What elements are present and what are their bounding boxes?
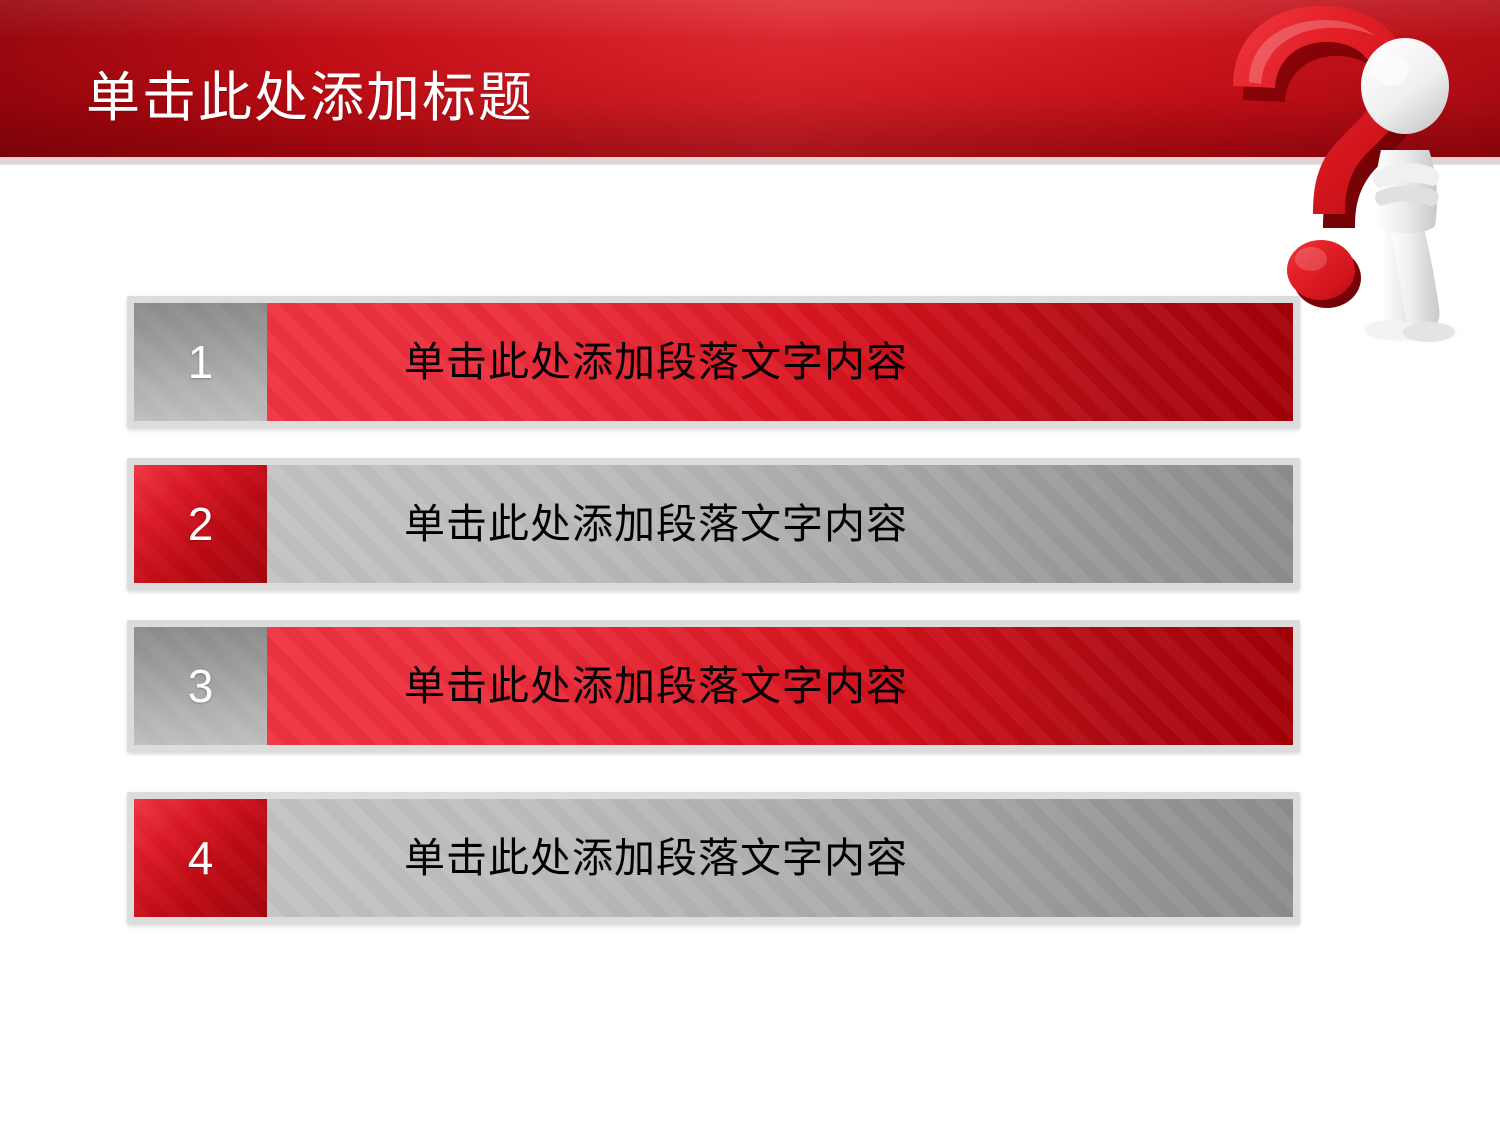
numbered-list: 1 单击此处添加段落文字内容 2 单击此处添加段落文字内容 3 单击此处添加段落… [0,0,1500,1125]
list-item-bar[interactable]: 单击此处添加段落文字内容 [267,465,1293,583]
list-item-bar[interactable]: 单击此处添加段落文字内容 [267,799,1293,917]
list-item-bar[interactable]: 单击此处添加段落文字内容 [267,627,1293,745]
list-item-number-box[interactable]: 2 [134,465,267,583]
list-item-number-box[interactable]: 1 [134,303,267,421]
list-item[interactable]: 2 单击此处添加段落文字内容 [127,458,1300,590]
list-item-number-box[interactable]: 4 [134,799,267,917]
list-item-number: 2 [188,501,214,547]
list-item[interactable]: 3 单击此处添加段落文字内容 [127,620,1300,752]
list-item-number-box[interactable]: 3 [134,627,267,745]
list-item-text[interactable]: 单击此处添加段落文字内容 [404,833,908,883]
list-item-text[interactable]: 单击此处添加段落文字内容 [404,661,908,711]
list-item-number: 1 [188,339,214,385]
list-item-text[interactable]: 单击此处添加段落文字内容 [404,499,908,549]
slide-canvas: 单击此处添加标题 [0,0,1500,1125]
list-item-number: 4 [188,835,214,881]
list-item-number: 3 [188,663,214,709]
list-item[interactable]: 1 单击此处添加段落文字内容 [127,296,1300,428]
list-item[interactable]: 4 单击此处添加段落文字内容 [127,792,1300,924]
list-item-bar[interactable]: 单击此处添加段落文字内容 [267,303,1293,421]
list-item-text[interactable]: 单击此处添加段落文字内容 [404,337,908,387]
